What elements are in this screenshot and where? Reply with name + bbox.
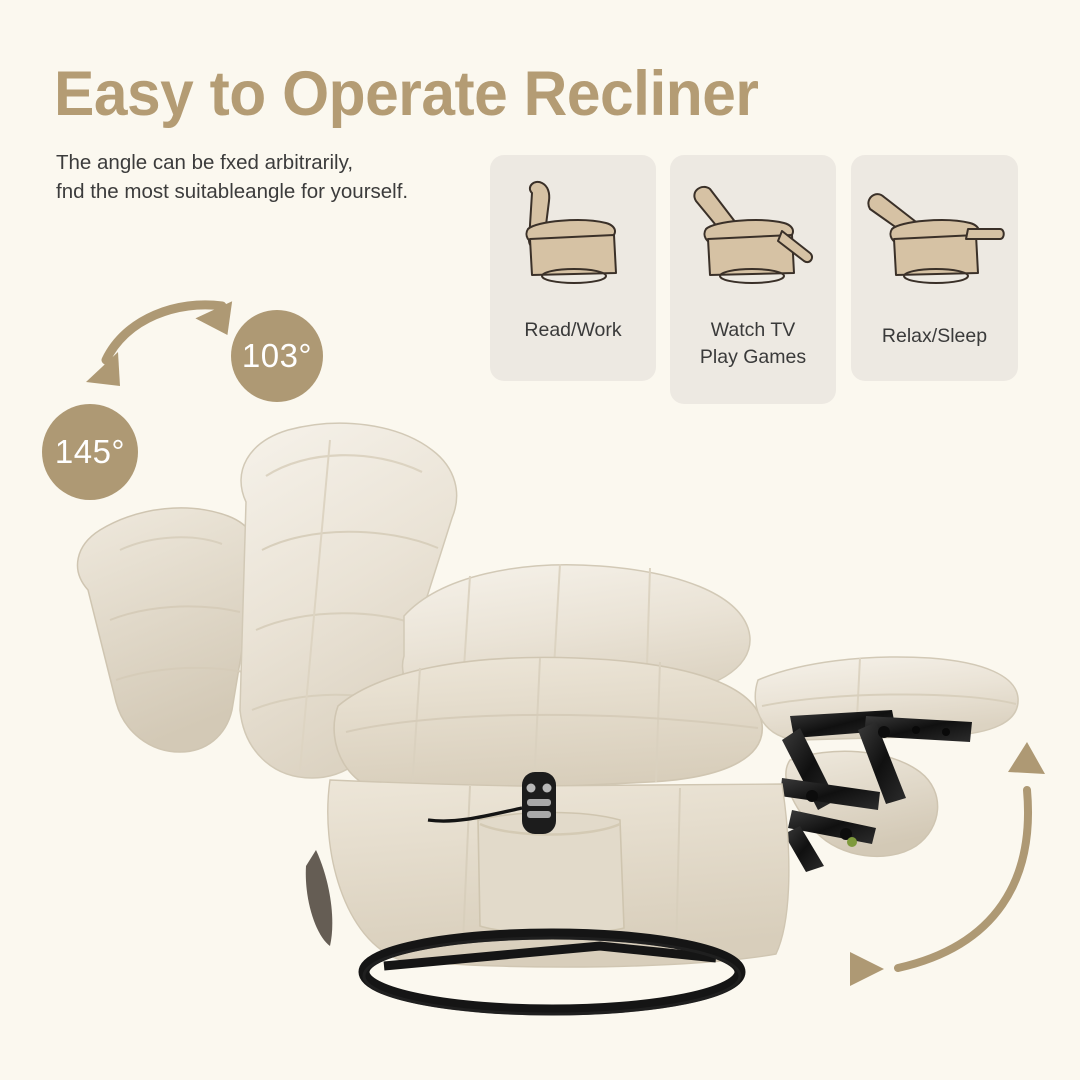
angle-badge-103[interactable]: 103° <box>231 310 323 402</box>
angle-badge-value: 145° <box>55 433 125 471</box>
mode-card-relax-sleep[interactable]: Relax/Sleep <box>851 155 1018 381</box>
infographic-canvas: Easy to Operate Recliner The angle can b… <box>0 0 1080 1080</box>
swivel-base <box>364 934 740 1014</box>
mode-card-label: Watch TV Play Games <box>700 317 806 371</box>
angle-badge-value: 103° <box>242 337 312 375</box>
angle-badge-145[interactable]: 145° <box>42 404 138 500</box>
mode-card-label: Relax/Sleep <box>882 323 987 350</box>
arrowhead-right <box>194 297 232 335</box>
mechanism-accent <box>847 837 857 847</box>
page-subtitle: The angle can be fxed arbitrarily, fnd t… <box>56 148 408 206</box>
top-double-headed-curved-arrow <box>106 305 222 360</box>
mode-card-watch-tv[interactable]: Watch TV Play Games <box>670 155 836 404</box>
recliner-partial-reclined-icon <box>682 179 824 291</box>
backrest-reclined-145 <box>78 508 258 752</box>
rear-shadow <box>306 850 333 946</box>
recliner-product-photo <box>0 380 1080 1080</box>
mode-card-read-work[interactable]: Read/Work <box>490 155 656 381</box>
page-title: Easy to Operate Recliner <box>54 58 758 130</box>
recliner-upright-icon <box>502 177 644 289</box>
mode-card-label: Read/Work <box>524 317 621 344</box>
recliner-full-reclined-icon <box>864 181 1006 293</box>
